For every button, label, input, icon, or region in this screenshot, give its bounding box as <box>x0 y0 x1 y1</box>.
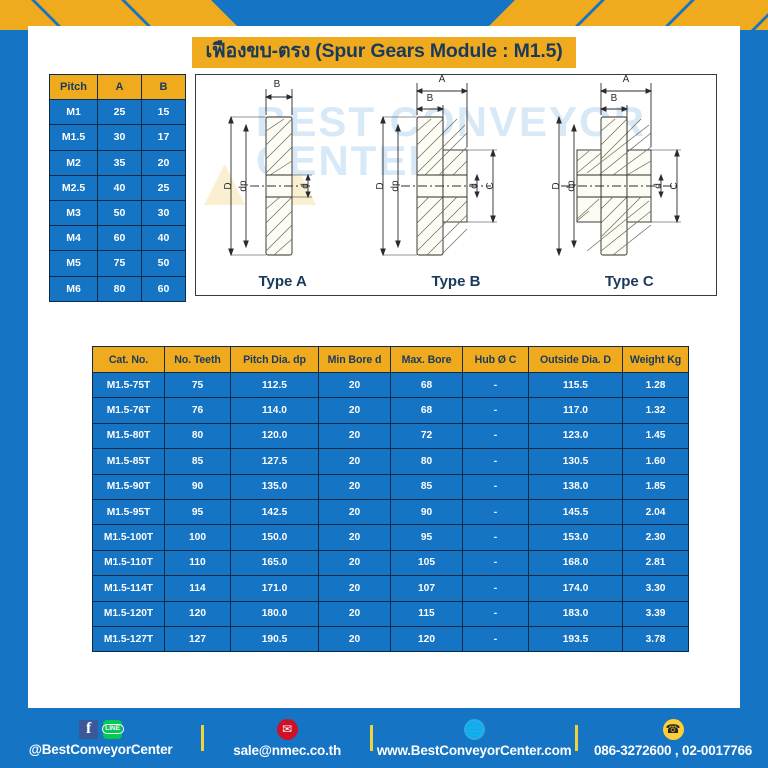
spec-cell: M1.5-100T <box>93 525 165 550</box>
spec-cell: 80 <box>165 423 231 448</box>
spec-cell: 2.81 <box>623 550 689 575</box>
svg-text:D: D <box>551 182 562 189</box>
spec-cell: 123.0 <box>529 423 623 448</box>
spec-cell: M1.5-95T <box>93 499 165 524</box>
svg-text:C: C <box>485 182 496 189</box>
spec-cell: 112.5 <box>231 373 319 398</box>
spec-cell: 68 <box>391 398 463 423</box>
spec-cell: 183.0 <box>529 601 623 626</box>
pitch-cell: M2 <box>50 150 98 175</box>
spec-cell: 20 <box>319 576 391 601</box>
diagram-type-c: A B D dp d C Type C <box>543 75 716 295</box>
svg-text:B: B <box>427 93 434 104</box>
spec-cell: 1.60 <box>623 449 689 474</box>
spec-cell: - <box>463 373 529 398</box>
pitch-table-row: M1.53017 <box>50 125 186 150</box>
pitch-table-row: M68060 <box>50 276 186 301</box>
svg-text:C: C <box>669 182 680 189</box>
table-row: M1.5-100T100150.02095-153.02.30 <box>93 525 689 550</box>
spec-cell: 90 <box>391 499 463 524</box>
spec-cell: 95 <box>165 499 231 524</box>
spec-cell: 90 <box>165 474 231 499</box>
table-row: M1.5-90T90135.02085-138.01.85 <box>93 474 689 499</box>
upper-section: PitchAB M12515M1.53017M23520M2.54025M350… <box>49 74 717 296</box>
spec-header-max-bore: Max. Bore <box>391 347 463 373</box>
pitch-cell: 60 <box>98 226 142 251</box>
spec-table-header-row: Cat. No.No. TeethPitch Dia. dpMin Bore d… <box>93 347 689 373</box>
spec-cell: 3.39 <box>623 601 689 626</box>
spec-cell: M1.5-120T <box>93 601 165 626</box>
pitch-cell: 75 <box>98 251 142 276</box>
pitch-cell: 40 <box>98 175 142 200</box>
spec-cell: 20 <box>319 423 391 448</box>
spec-cell: 20 <box>319 525 391 550</box>
table-row: M1.5-80T80120.02072-123.01.45 <box>93 423 689 448</box>
pitch-table-row: M12515 <box>50 100 186 125</box>
svg-text:A: A <box>439 75 446 85</box>
pitch-cell: 15 <box>142 100 186 125</box>
svg-text:D: D <box>375 182 386 189</box>
footer-phone-label: 086-3272600 , 02-0017766 <box>594 743 752 758</box>
pitch-cell: M1 <box>50 100 98 125</box>
spec-cell: 80 <box>391 449 463 474</box>
page-title: เฟืองขบ-ตรง (Spur Gears Module : M1.5) <box>192 37 575 68</box>
spec-cell: 76 <box>165 398 231 423</box>
pitch-header-pitch: Pitch <box>50 75 98 100</box>
content-panel: เฟืองขบ-ตรง (Spur Gears Module : M1.5) P… <box>28 26 740 708</box>
spec-header-weight-kg: Weight Kg <box>623 347 689 373</box>
line-icon[interactable]: LINE <box>103 720 122 739</box>
pitch-table: PitchAB M12515M1.53017M23520M2.54025M350… <box>49 74 186 302</box>
svg-text:dp: dp <box>566 180 577 192</box>
gear-type-c-drawing: A B D dp d C <box>543 75 717 296</box>
spec-cell: 72 <box>391 423 463 448</box>
spec-cell: 85 <box>165 449 231 474</box>
pitch-cell: 17 <box>142 125 186 150</box>
spec-cell: 142.5 <box>231 499 319 524</box>
pitch-cell: 25 <box>98 100 142 125</box>
globe-icon[interactable]: 🌐 <box>464 719 485 740</box>
spec-cell: 20 <box>319 398 391 423</box>
footer-website[interactable]: 🌐 www.BestConveyorCenter.com <box>373 719 575 758</box>
spec-cell: - <box>463 474 529 499</box>
spec-cell: 20 <box>319 601 391 626</box>
pitch-cell: 25 <box>142 175 186 200</box>
footer-social-label: @BestConveyorCenter <box>29 742 173 757</box>
spec-cell: - <box>463 601 529 626</box>
spec-cell: M1.5-90T <box>93 474 165 499</box>
spec-cell: - <box>463 550 529 575</box>
spec-cell: 190.5 <box>231 626 319 651</box>
spec-cell: 127.5 <box>231 449 319 474</box>
spec-cell: 115 <box>391 601 463 626</box>
table-row: M1.5-114T114171.020107-174.03.30 <box>93 576 689 601</box>
pitch-cell: 20 <box>142 150 186 175</box>
pitch-cell: 30 <box>142 200 186 225</box>
spec-cell: M1.5-127T <box>93 626 165 651</box>
diagram-type-a: B D dp d Type A <box>196 75 369 295</box>
spec-cell: 107 <box>391 576 463 601</box>
spec-cell: 135.0 <box>231 474 319 499</box>
spec-cell: 153.0 <box>529 525 623 550</box>
spec-table-wrap: Cat. No.No. TeethPitch Dia. dpMin Bore d… <box>92 346 678 652</box>
pitch-table-row: M35030 <box>50 200 186 225</box>
pitch-table-row: M57550 <box>50 251 186 276</box>
spec-cell: 85 <box>391 474 463 499</box>
footer-social[interactable]: f LINE @BestConveyorCenter <box>0 720 201 757</box>
pitch-cell: M6 <box>50 276 98 301</box>
spec-cell: 1.28 <box>623 373 689 398</box>
spec-cell: 127 <box>165 626 231 651</box>
table-row: M1.5-76T76114.02068-117.01.32 <box>93 398 689 423</box>
spec-cell: 95 <box>391 525 463 550</box>
spec-cell: 105 <box>391 550 463 575</box>
spec-cell: 138.0 <box>529 474 623 499</box>
table-row: M1.5-127T127190.520120-193.53.78 <box>93 626 689 651</box>
type-a-label: Type A <box>196 273 369 290</box>
pitch-table-row: M2.54025 <box>50 175 186 200</box>
spec-cell: 120 <box>165 601 231 626</box>
spec-cell: M1.5-76T <box>93 398 165 423</box>
svg-text:B: B <box>274 79 281 90</box>
spec-cell: 2.04 <box>623 499 689 524</box>
spec-cell: 2.30 <box>623 525 689 550</box>
spec-cell: 20 <box>319 550 391 575</box>
spec-cell: 1.85 <box>623 474 689 499</box>
footer-email[interactable]: ✉ sale@nmec.co.th <box>204 719 370 758</box>
pitch-cell: M5 <box>50 251 98 276</box>
spec-cell: 165.0 <box>231 550 319 575</box>
pitch-cell: M2.5 <box>50 175 98 200</box>
pitch-header-a: A <box>98 75 142 100</box>
svg-text:dp: dp <box>238 180 249 192</box>
spec-cell: - <box>463 449 529 474</box>
pitch-cell: M1.5 <box>50 125 98 150</box>
spec-cell: - <box>463 423 529 448</box>
spec-header-outside-dia-d: Outside Dia. D <box>529 347 623 373</box>
gear-type-b-drawing: A B D dp d C <box>369 75 541 296</box>
table-row: M1.5-110T110165.020105-168.02.81 <box>93 550 689 575</box>
spec-cell: 174.0 <box>529 576 623 601</box>
spec-cell: 120 <box>391 626 463 651</box>
spec-table: Cat. No.No. TeethPitch Dia. dpMin Bore d… <box>92 346 689 652</box>
phone-icon[interactable]: ☎ <box>663 719 684 740</box>
pitch-cell: 50 <box>142 251 186 276</box>
svg-text:dp: dp <box>390 180 401 192</box>
spec-cell: - <box>463 626 529 651</box>
svg-text:B: B <box>610 93 617 104</box>
spec-cell: 130.5 <box>529 449 623 474</box>
footer-contact-bar: f LINE @BestConveyorCenter ✉ sale@nmec.c… <box>0 708 768 768</box>
table-row: M1.5-85T85127.52080-130.51.60 <box>93 449 689 474</box>
spec-cell: 110 <box>165 550 231 575</box>
table-row: M1.5-120T120180.020115-183.03.39 <box>93 601 689 626</box>
spec-cell: M1.5-110T <box>93 550 165 575</box>
footer-email-label: sale@nmec.co.th <box>233 743 341 758</box>
spec-header-hub-c: Hub Ø C <box>463 347 529 373</box>
pitch-table-row: M46040 <box>50 226 186 251</box>
svg-text:A: A <box>622 75 629 85</box>
spec-header-cat-no: Cat. No. <box>93 347 165 373</box>
spec-header-no-teeth: No. Teeth <box>165 347 231 373</box>
spec-cell: 3.30 <box>623 576 689 601</box>
spec-cell: 1.45 <box>623 423 689 448</box>
pitch-header-b: B <box>142 75 186 100</box>
diagram-panel: ▲▲ BEST CONVEYOR CENTER <box>195 74 717 296</box>
facebook-icon[interactable]: f <box>79 720 98 739</box>
svg-text:d: d <box>653 183 664 189</box>
spec-cell: - <box>463 499 529 524</box>
spec-cell: - <box>463 525 529 550</box>
spec-cell: 114.0 <box>231 398 319 423</box>
spec-cell: 3.78 <box>623 626 689 651</box>
spec-cell: 20 <box>319 474 391 499</box>
spec-cell: - <box>463 576 529 601</box>
svg-text:d: d <box>469 183 480 189</box>
pitch-cell: 30 <box>98 125 142 150</box>
spec-cell: M1.5-80T <box>93 423 165 448</box>
spec-cell: 20 <box>319 499 391 524</box>
svg-text:d: d <box>300 183 311 189</box>
svg-text:D: D <box>223 182 234 189</box>
spec-cell: 120.0 <box>231 423 319 448</box>
gear-type-a-drawing: B D dp d <box>196 75 356 296</box>
pitch-table-header-row: PitchAB <box>50 75 186 100</box>
page-title-wrap: เฟืองขบ-ตรง (Spur Gears Module : M1.5) <box>28 26 740 68</box>
spec-cell: M1.5-85T <box>93 449 165 474</box>
diagram-type-b: A B D dp d C Type B <box>369 75 542 295</box>
footer-website-label: www.BestConveyorCenter.com <box>377 743 572 758</box>
spec-cell: 75 <box>165 373 231 398</box>
pitch-cell: 35 <box>98 150 142 175</box>
pitch-cell: M3 <box>50 200 98 225</box>
spec-cell: 115.5 <box>529 373 623 398</box>
spec-cell: 193.5 <box>529 626 623 651</box>
spec-cell: 168.0 <box>529 550 623 575</box>
spec-cell: 1.32 <box>623 398 689 423</box>
pitch-cell: 50 <box>98 200 142 225</box>
spec-cell: 68 <box>391 373 463 398</box>
spec-cell: 20 <box>319 626 391 651</box>
spec-cell: 114 <box>165 576 231 601</box>
pitch-cell: 40 <box>142 226 186 251</box>
spec-cell: 180.0 <box>231 601 319 626</box>
spec-cell: - <box>463 398 529 423</box>
envelope-icon[interactable]: ✉ <box>277 719 298 740</box>
pitch-cell: M4 <box>50 226 98 251</box>
type-c-label: Type C <box>543 273 716 290</box>
spec-cell: 20 <box>319 373 391 398</box>
spec-cell: 145.5 <box>529 499 623 524</box>
pitch-cell: 80 <box>98 276 142 301</box>
spec-header-min-bore-d: Min Bore d <box>319 347 391 373</box>
spec-cell: 150.0 <box>231 525 319 550</box>
type-b-label: Type B <box>369 273 542 290</box>
spec-cell: M1.5-114T <box>93 576 165 601</box>
spec-header-pitch-dia-dp: Pitch Dia. dp <box>231 347 319 373</box>
spec-cell: 100 <box>165 525 231 550</box>
footer-phone[interactable]: ☎ 086-3272600 , 02-0017766 <box>578 719 768 758</box>
spec-cell: M1.5-75T <box>93 373 165 398</box>
table-row: M1.5-75T75112.52068-115.51.28 <box>93 373 689 398</box>
pitch-table-row: M23520 <box>50 150 186 175</box>
spec-cell: 171.0 <box>231 576 319 601</box>
table-row: M1.5-95T95142.52090-145.52.04 <box>93 499 689 524</box>
spec-cell: 117.0 <box>529 398 623 423</box>
spec-cell: 20 <box>319 449 391 474</box>
pitch-cell: 60 <box>142 276 186 301</box>
